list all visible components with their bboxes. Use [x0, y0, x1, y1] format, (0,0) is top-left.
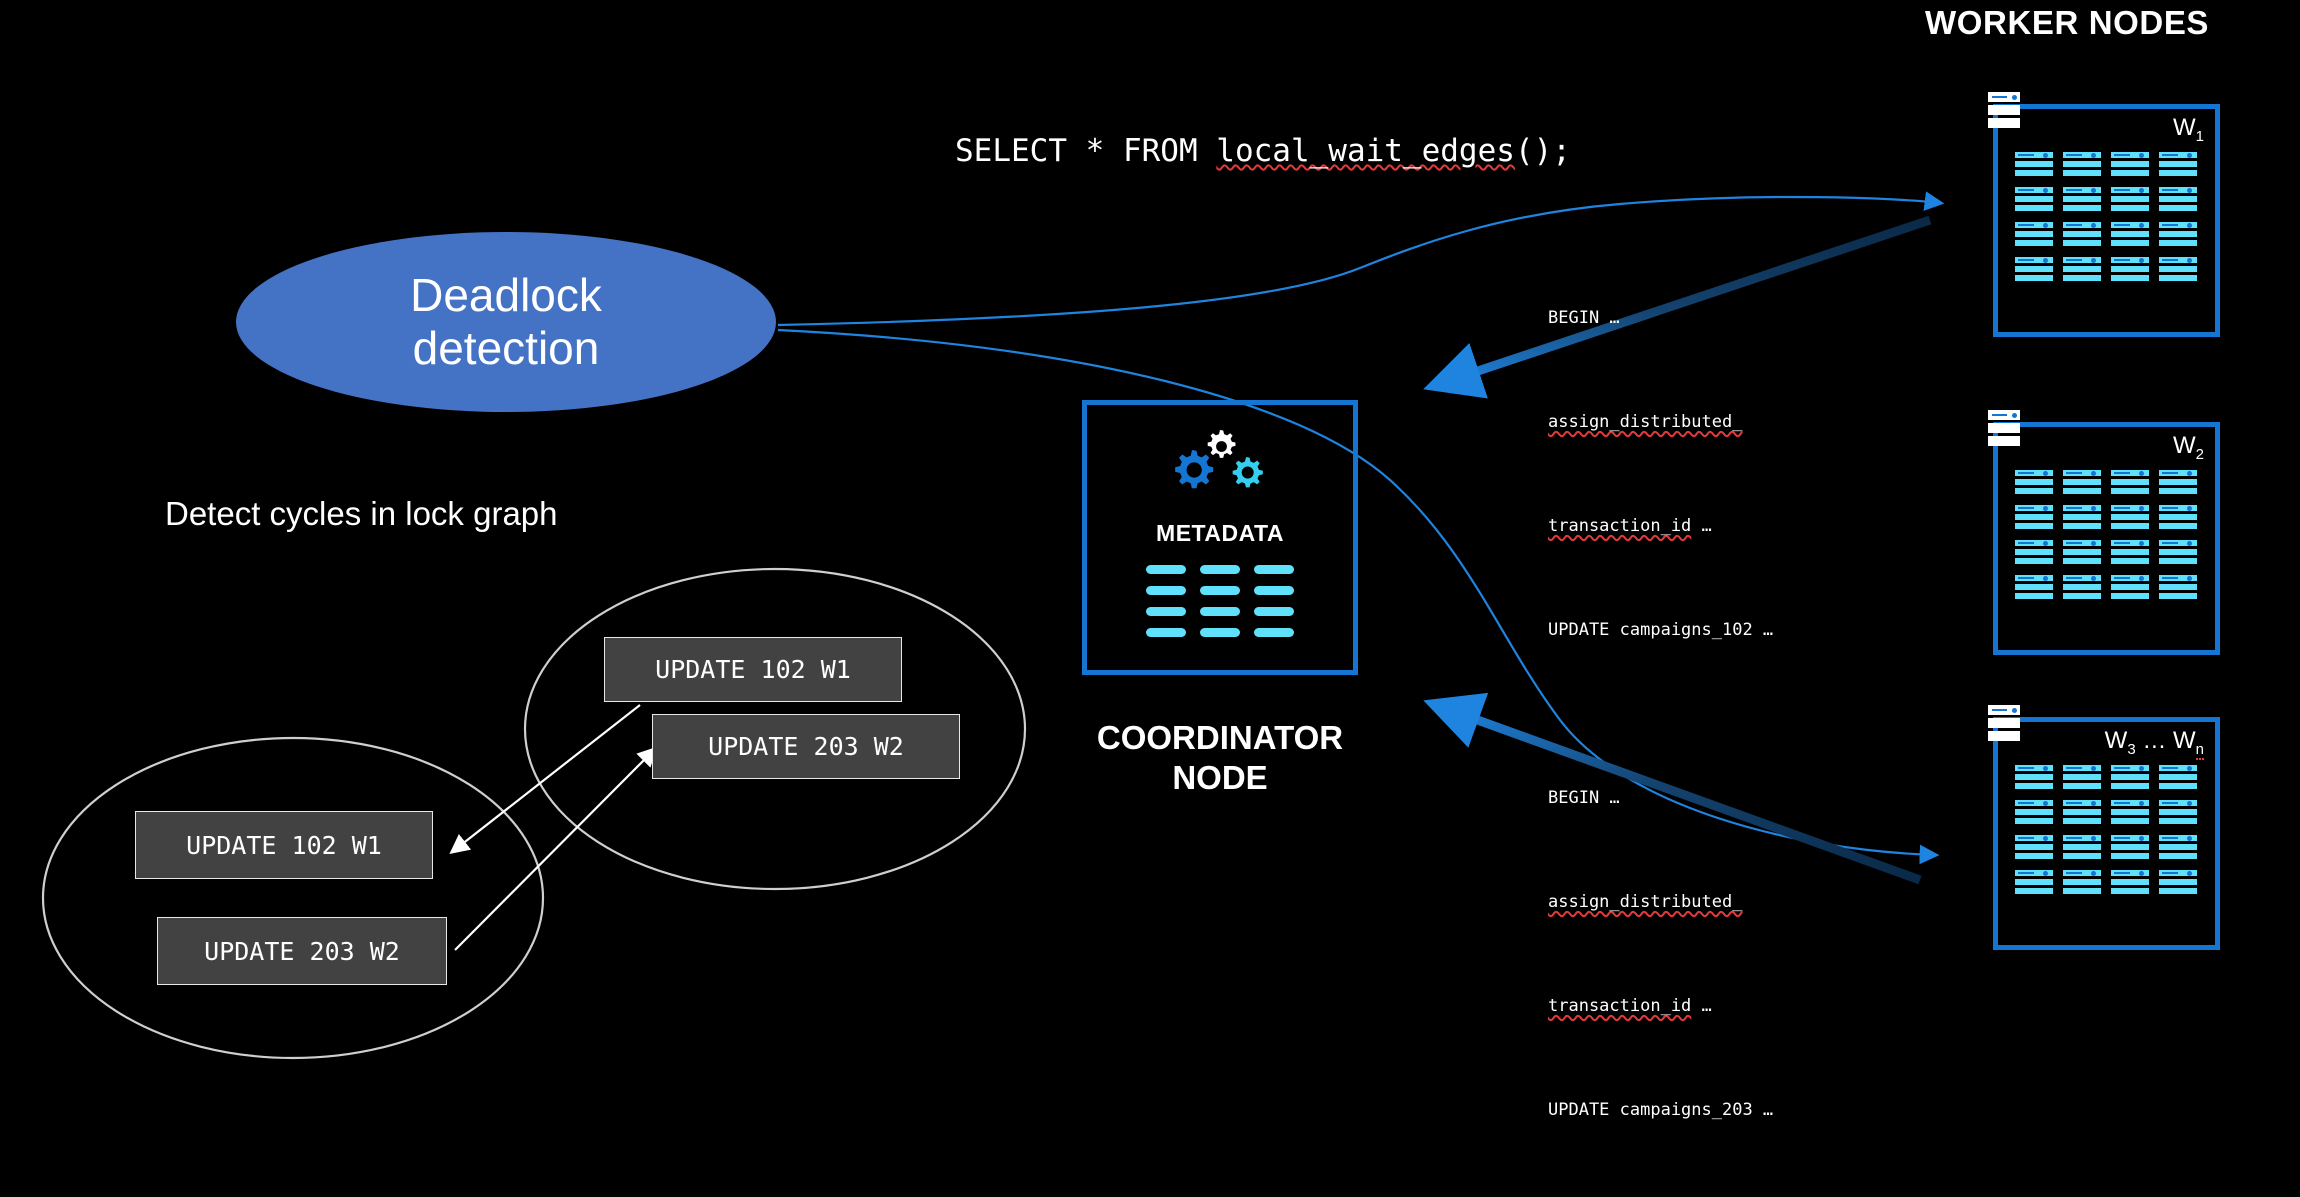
shard-table-icon: [2015, 222, 2053, 247]
shard-table-icon: [2015, 575, 2053, 600]
worker-node-2[interactable]: W2: [1988, 410, 2220, 655]
shard-table-icon: [2063, 470, 2101, 495]
lock-box-left-update-102[interactable]: UPDATE 102 W1: [135, 811, 433, 879]
gear-cyan: [1233, 457, 1263, 487]
sql-function-name: local_wait_edges: [1216, 133, 1515, 169]
shard-table-icon: [2111, 187, 2149, 212]
gears-icon: [1160, 422, 1280, 507]
shard-table-icon: [2063, 222, 2101, 247]
lock-box-left-update-203[interactable]: UPDATE 203 W2: [157, 917, 447, 985]
shard-table-icon: [2015, 765, 2053, 790]
shard-table-icon: [2063, 152, 2101, 177]
sql-query-text: SELECT * FROM local_wait_edges();: [955, 133, 1571, 169]
shard-table-icon: [2159, 222, 2197, 247]
shard-table-icon: [2015, 470, 2053, 495]
shard-table-icon: [2159, 800, 2197, 825]
shard-table-icon: [2015, 257, 2053, 282]
shard-table-icon: [2111, 222, 2149, 247]
shard-table-icon: [2063, 257, 2101, 282]
shard-table-icon: [2159, 575, 2197, 600]
txn1-line-assign: assign_distributed_: [1548, 405, 1773, 440]
coordinator-node[interactable]: METADATA: [1082, 400, 1358, 675]
lock-box-right-update-102[interactable]: UPDATE 102 W1: [604, 637, 902, 702]
txn2-line-txid: transaction_id …: [1548, 989, 1773, 1024]
txn1-line-update: UPDATE campaigns_102 …: [1548, 613, 1773, 648]
lock-edge-right-to-left: [452, 705, 640, 852]
shard-table-icon: [2063, 870, 2101, 895]
worker-node-3[interactable]: W3 … Wn: [1988, 705, 2220, 950]
metadata-label: METADATA: [1082, 520, 1358, 547]
shard-table-icon: [2111, 800, 2149, 825]
txn1-line-begin: BEGIN …: [1548, 301, 1773, 336]
sql-prefix: SELECT * FROM: [955, 133, 1216, 169]
shard-table-icon: [2111, 152, 2149, 177]
coordinator-title-line2: NODE: [1060, 758, 1380, 798]
shard-table-icon: [2063, 505, 2101, 530]
shard-table-icon: [2063, 835, 2101, 860]
shard-table-icon: [2015, 835, 2053, 860]
coordinator-node-title: COORDINATOR NODE: [1060, 718, 1380, 799]
sql-suffix: ();: [1515, 133, 1571, 169]
coordinator-title-line1: COORDINATOR: [1060, 718, 1380, 758]
shard-table-icon: [2159, 505, 2197, 530]
shard-table-icon: [2111, 870, 2149, 895]
shard-table-icon: [2015, 505, 2053, 530]
txn2-line-begin: BEGIN …: [1548, 781, 1773, 816]
txn2-line-update: UPDATE campaigns_203 …: [1548, 1093, 1773, 1128]
shard-table-icon: [2063, 575, 2101, 600]
server-icon: [1988, 705, 2020, 742]
shard-table-icon: [2111, 257, 2149, 282]
detect-cycles-caption: Detect cycles in lock graph: [165, 495, 558, 533]
shard-table-icon: [2015, 152, 2053, 177]
shard-table-icon: [2111, 470, 2149, 495]
shard-table-icon: [2159, 870, 2197, 895]
shard-table-icon: [2015, 800, 2053, 825]
shard-table-grid: [2015, 470, 2197, 600]
txn1-line-txid: transaction_id …: [1548, 509, 1773, 544]
shard-table-icon: [2063, 540, 2101, 565]
worker-label: W3 … Wn: [2105, 727, 2204, 758]
shard-table-grid: [2015, 765, 2197, 895]
shard-table-icon: [2111, 765, 2149, 790]
shard-table-icon: [2015, 540, 2053, 565]
worker-node-1[interactable]: W1: [1988, 92, 2220, 337]
shard-table-icon: [2159, 257, 2197, 282]
txn2-line-assign: assign_distributed_: [1548, 885, 1773, 920]
worker-nodes-title: WORKER NODES: [1925, 4, 2209, 42]
gear-blue: [1175, 450, 1213, 488]
transaction-snippet-1: BEGIN … assign_distributed_ transaction_…: [1548, 232, 1773, 717]
deadlock-detection-label: Deadlock detection: [410, 269, 602, 376]
deadlock-detection-ellipse[interactable]: Deadlock detection: [236, 232, 776, 412]
shard-table-icon: [2015, 870, 2053, 895]
shard-table-icon: [2111, 575, 2149, 600]
gear-white: [1208, 430, 1236, 458]
metadata-bars: [1146, 565, 1294, 637]
shard-table-icon: [2111, 540, 2149, 565]
shard-table-icon: [2063, 187, 2101, 212]
shard-table-icon: [2111, 505, 2149, 530]
shard-table-icon: [2159, 152, 2197, 177]
server-icon: [1988, 410, 2020, 447]
lock-cycle-ellipse-left: [43, 738, 543, 1058]
shard-table-icon: [2111, 835, 2149, 860]
shard-table-icon: [2063, 800, 2101, 825]
server-icon: [1988, 92, 2020, 129]
shard-table-icon: [2159, 835, 2197, 860]
lock-edge-left-to-right: [455, 749, 655, 950]
worker-label: W1: [2173, 114, 2204, 145]
shard-table-icon: [2159, 187, 2197, 212]
shard-table-icon: [2159, 540, 2197, 565]
shard-table-icon: [2159, 470, 2197, 495]
shard-table-icon: [2063, 765, 2101, 790]
shard-table-icon: [2015, 187, 2053, 212]
worker-label: W2: [2173, 432, 2204, 463]
shard-table-grid: [2015, 152, 2197, 282]
lock-box-right-update-203[interactable]: UPDATE 203 W2: [652, 714, 960, 779]
diagram-canvas: SELECT * FROM local_wait_edges(); WORKER…: [0, 0, 2300, 1072]
shard-table-icon: [2159, 765, 2197, 790]
transaction-snippet-2: BEGIN … assign_distributed_ transaction_…: [1548, 712, 1773, 1197]
